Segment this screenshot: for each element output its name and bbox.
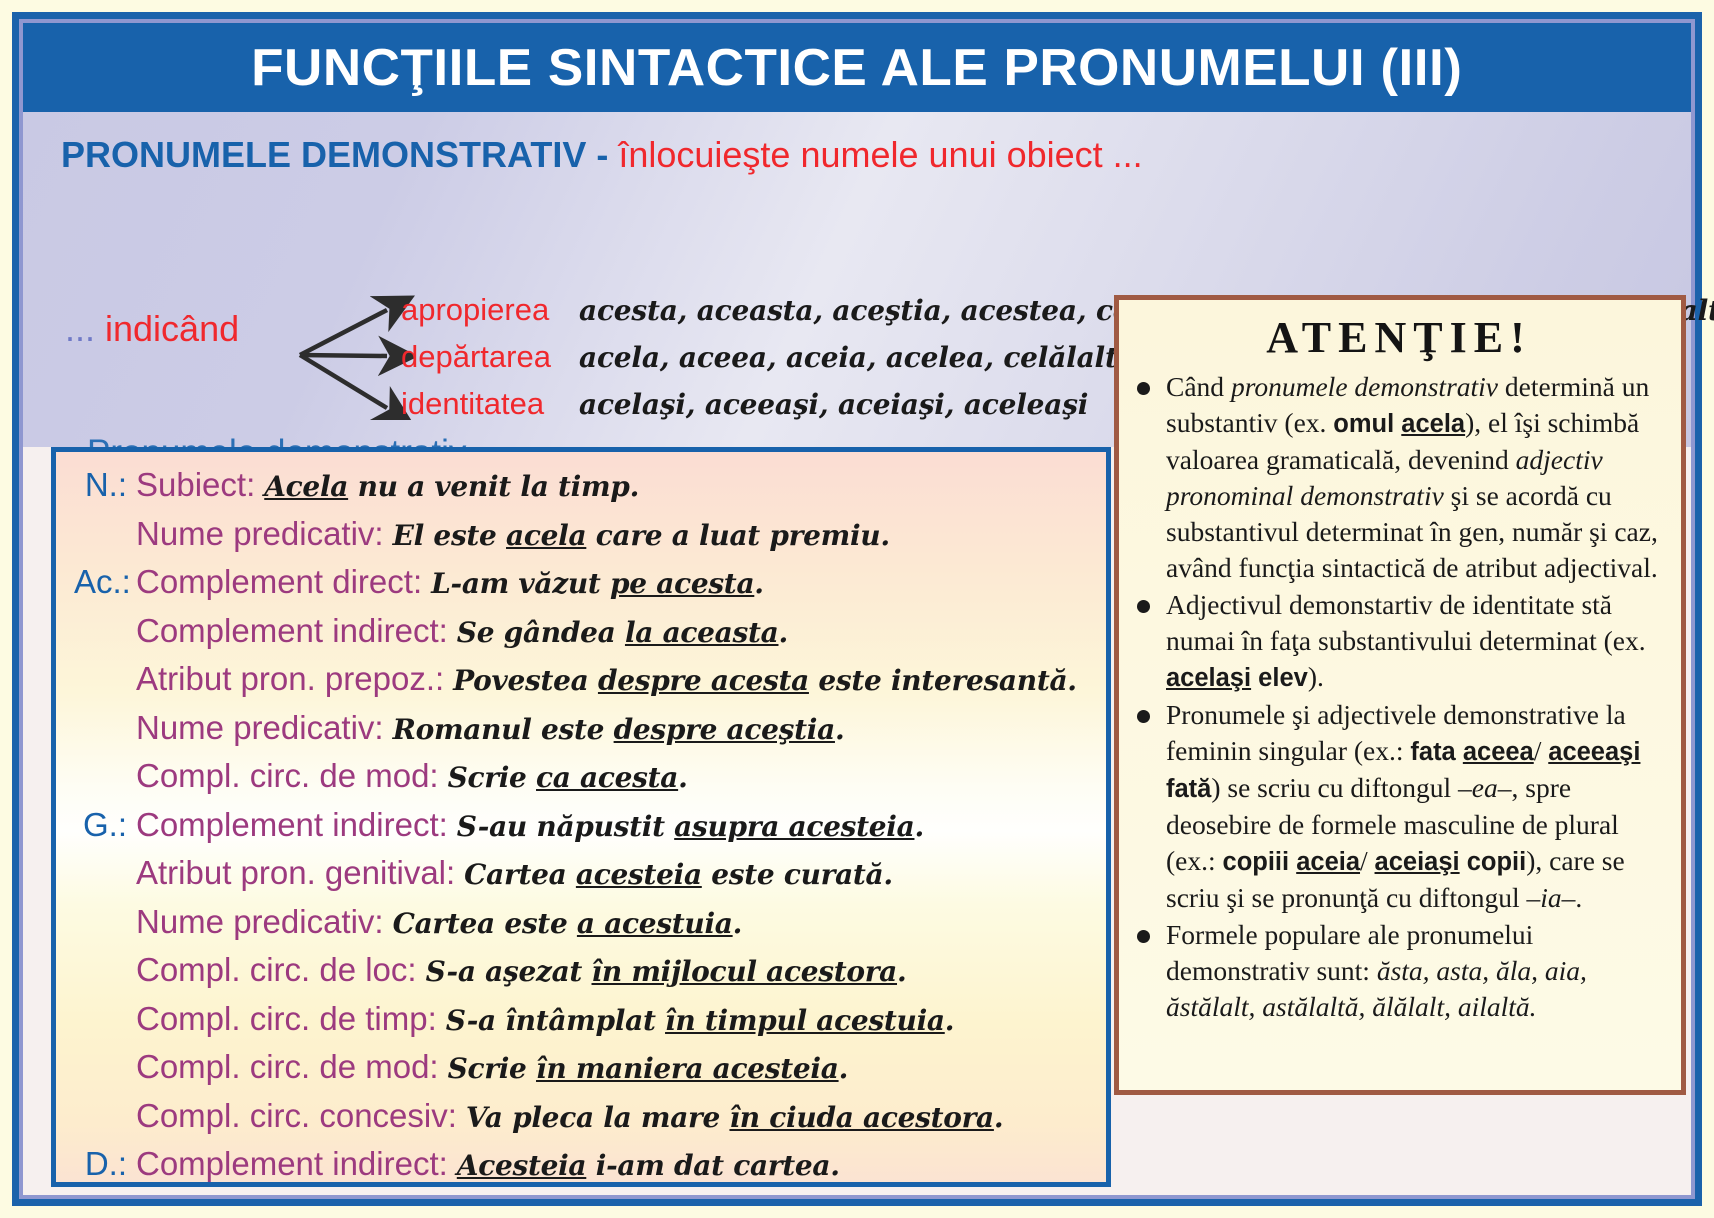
example-row: Nume predicativ:El este acela care a lua… bbox=[74, 515, 1100, 564]
example-row: G.:Complement indirect:S-au năpustit asu… bbox=[74, 806, 1100, 855]
example-sentence: Povestea despre acesta este interesantă. bbox=[453, 664, 1077, 697]
indicand-label: ... indicând bbox=[65, 308, 239, 350]
category-label: identitatea bbox=[401, 386, 579, 422]
example-function-label: Compl. circ. de loc: bbox=[136, 951, 417, 989]
example-highlight: în timpul acestuia bbox=[665, 1004, 945, 1037]
example-highlight: la aceasta bbox=[625, 616, 779, 649]
example-sentence: S-a aşezat în mijlocul acestora. bbox=[426, 955, 907, 988]
example-row: Atribut pron. genitival:Cartea acesteia … bbox=[74, 854, 1100, 903]
example-case-label: N.: bbox=[74, 466, 136, 504]
example-function-label: Atribut pron. genitival: bbox=[136, 854, 455, 892]
example-row: Ac.:Complement direct:L-am văzut pe aces… bbox=[74, 563, 1100, 612]
example-highlight: a acestuia bbox=[577, 907, 733, 940]
attention-bullet: Formele populare ale pronumelui demonstr… bbox=[1135, 917, 1663, 1025]
example-sentence: Cartea este a acestuia. bbox=[393, 907, 742, 940]
bullet-dot-icon bbox=[1137, 930, 1150, 943]
example-highlight: Acela bbox=[264, 470, 348, 503]
example-row: Compl. circ. de loc:S-a aşezat în mijloc… bbox=[74, 951, 1100, 1000]
example-row: Compl. circ. concesiv:Va pleca la mare î… bbox=[74, 1097, 1100, 1146]
attention-bullet-list: Când pronumele demonstrativ determină un… bbox=[1135, 369, 1663, 1025]
example-row: D.:Complement indirect:Acesteia i-am dat… bbox=[74, 1145, 1100, 1187]
example-case-label: G.: bbox=[74, 806, 136, 844]
indicand-word: indicând bbox=[105, 308, 239, 349]
example-sentence: Scrie în maniera acesteia. bbox=[448, 1052, 848, 1085]
example-highlight: despre acesta bbox=[598, 664, 809, 697]
attention-bullet-text: Pronumele şi adjectivele demonstrative l… bbox=[1166, 699, 1640, 913]
example-function-label: Complement direct: bbox=[136, 563, 422, 601]
example-case-label: D.: bbox=[74, 1145, 136, 1183]
example-sentence: Cartea acesteia este curată. bbox=[464, 858, 893, 891]
attention-bullet-text: Adjectivul demonstartiv de identitate st… bbox=[1166, 589, 1646, 692]
attention-bullet-text: Formele populare ale pronumelui demonstr… bbox=[1166, 919, 1587, 1022]
definition-dash: - bbox=[586, 134, 618, 175]
example-function-label: Compl. circ. de mod: bbox=[136, 757, 439, 795]
example-highlight: asupra acesteia bbox=[674, 810, 914, 843]
example-highlight: Acesteia bbox=[457, 1149, 586, 1182]
example-function-label: Complement indirect: bbox=[136, 612, 448, 650]
example-row: Compl. circ. de mod:Scrie în maniera ace… bbox=[74, 1048, 1100, 1097]
example-sentence: Acela nu a venit la timp. bbox=[264, 470, 639, 503]
example-function-label: Complement indirect: bbox=[136, 806, 448, 844]
page-title: FUNCŢIILE SINTACTICE ALE PRONUMELUI (III… bbox=[251, 38, 1462, 98]
example-row: N.:Subiect:Acela nu a venit la timp. bbox=[74, 466, 1100, 515]
example-highlight: pe acesta bbox=[610, 567, 754, 600]
indicand-dots: ... bbox=[65, 308, 105, 349]
title-bar: FUNCŢIILE SINTACTICE ALE PRONUMELUI (III… bbox=[23, 23, 1691, 112]
example-function-label: Nume predicativ: bbox=[136, 515, 384, 553]
attention-bullet-text: Când pronumele demonstrativ determină un… bbox=[1166, 371, 1658, 583]
category-label: depărtarea bbox=[401, 339, 579, 375]
example-highlight: în maniera acesteia bbox=[536, 1052, 839, 1085]
example-row: Atribut pron. prepoz.:Povestea despre ac… bbox=[74, 660, 1100, 709]
example-sentence: Scrie ca acesta. bbox=[448, 761, 688, 794]
poster-frame: FUNCŢIILE SINTACTICE ALE PRONUMELUI (III… bbox=[12, 12, 1702, 1206]
example-highlight: în ciuda acestora bbox=[729, 1101, 993, 1134]
bullet-dot-icon bbox=[1137, 382, 1150, 395]
attention-bullet: Când pronumele demonstrativ determină un… bbox=[1135, 369, 1663, 586]
attention-bullet: Adjectivul demonstartiv de identitate st… bbox=[1135, 587, 1663, 696]
example-sentence: Se gândea la aceasta. bbox=[457, 616, 788, 649]
example-sentence: S-a întâmplat în timpul acestuia. bbox=[446, 1004, 954, 1037]
example-function-label: Complement indirect: bbox=[136, 1145, 448, 1183]
example-sentence: Va pleca la mare în ciuda acestora. bbox=[466, 1101, 1003, 1134]
example-row: Compl. circ. de timp:S-a întâmplat în ti… bbox=[74, 1000, 1100, 1049]
example-sentence: S-au năpustit asupra acesteia. bbox=[457, 810, 924, 843]
examples-box: N.:Subiect:Acela nu a venit la timp.Nume… bbox=[51, 447, 1111, 1187]
example-sentence: Romanul este despre aceştia. bbox=[393, 713, 845, 746]
example-function-label: Nume predicativ: bbox=[136, 709, 384, 747]
example-function-label: Compl. circ. de timp: bbox=[136, 1000, 437, 1038]
branching-arrows-icon bbox=[295, 290, 415, 420]
example-sentence: Acesteia i-am dat cartea. bbox=[457, 1149, 840, 1182]
example-function-label: Nume predicativ: bbox=[136, 903, 384, 941]
example-row: Compl. circ. de mod:Scrie ca acesta. bbox=[74, 757, 1100, 806]
definition-line: PRONUMELE DEMONSTRATIV - înlocuieşte num… bbox=[61, 134, 1143, 176]
example-row: Nume predicativ:Romanul este despre aceş… bbox=[74, 709, 1100, 758]
example-function-label: Subiect: bbox=[136, 466, 255, 504]
bullet-dot-icon bbox=[1137, 710, 1150, 723]
example-sentence: El este acela care a luat premiu. bbox=[393, 519, 890, 552]
poster-inner: FUNCŢIILE SINTACTICE ALE PRONUMELUI (III… bbox=[23, 23, 1691, 1195]
example-highlight: acela bbox=[506, 519, 586, 552]
example-highlight: acesteia bbox=[576, 858, 702, 891]
definition-description: înlocuieşte numele unui obiect ... bbox=[618, 134, 1142, 175]
attention-title: ATENŢIE! bbox=[1135, 312, 1663, 363]
category-words: acelaşi, aceeaşi, aceiaşi, aceleaşi bbox=[579, 388, 1088, 421]
example-function-label: Atribut pron. prepoz.: bbox=[136, 660, 444, 698]
example-highlight: despre aceştia bbox=[614, 713, 835, 746]
attention-bullet: Pronumele şi adjectivele demonstrative l… bbox=[1135, 697, 1663, 916]
attention-box: ATENŢIE! Când pronumele demonstrativ det… bbox=[1114, 295, 1686, 1095]
example-case-label: Ac.: bbox=[74, 563, 136, 601]
example-sentence: L-am văzut pe acesta. bbox=[431, 567, 764, 600]
bullet-dot-icon bbox=[1137, 600, 1150, 613]
example-highlight: în mijlocul acestora bbox=[592, 955, 898, 988]
example-highlight: ca acesta bbox=[536, 761, 678, 794]
example-row: Nume predicativ:Cartea este a acestuia. bbox=[74, 903, 1100, 952]
example-row: Complement indirect:Se gândea la aceasta… bbox=[74, 612, 1100, 661]
category-label: apropierea bbox=[401, 292, 579, 328]
example-function-label: Compl. circ. de mod: bbox=[136, 1048, 439, 1086]
definition-term: PRONUMELE DEMONSTRATIV bbox=[61, 134, 586, 175]
example-function-label: Compl. circ. concesiv: bbox=[136, 1097, 457, 1135]
